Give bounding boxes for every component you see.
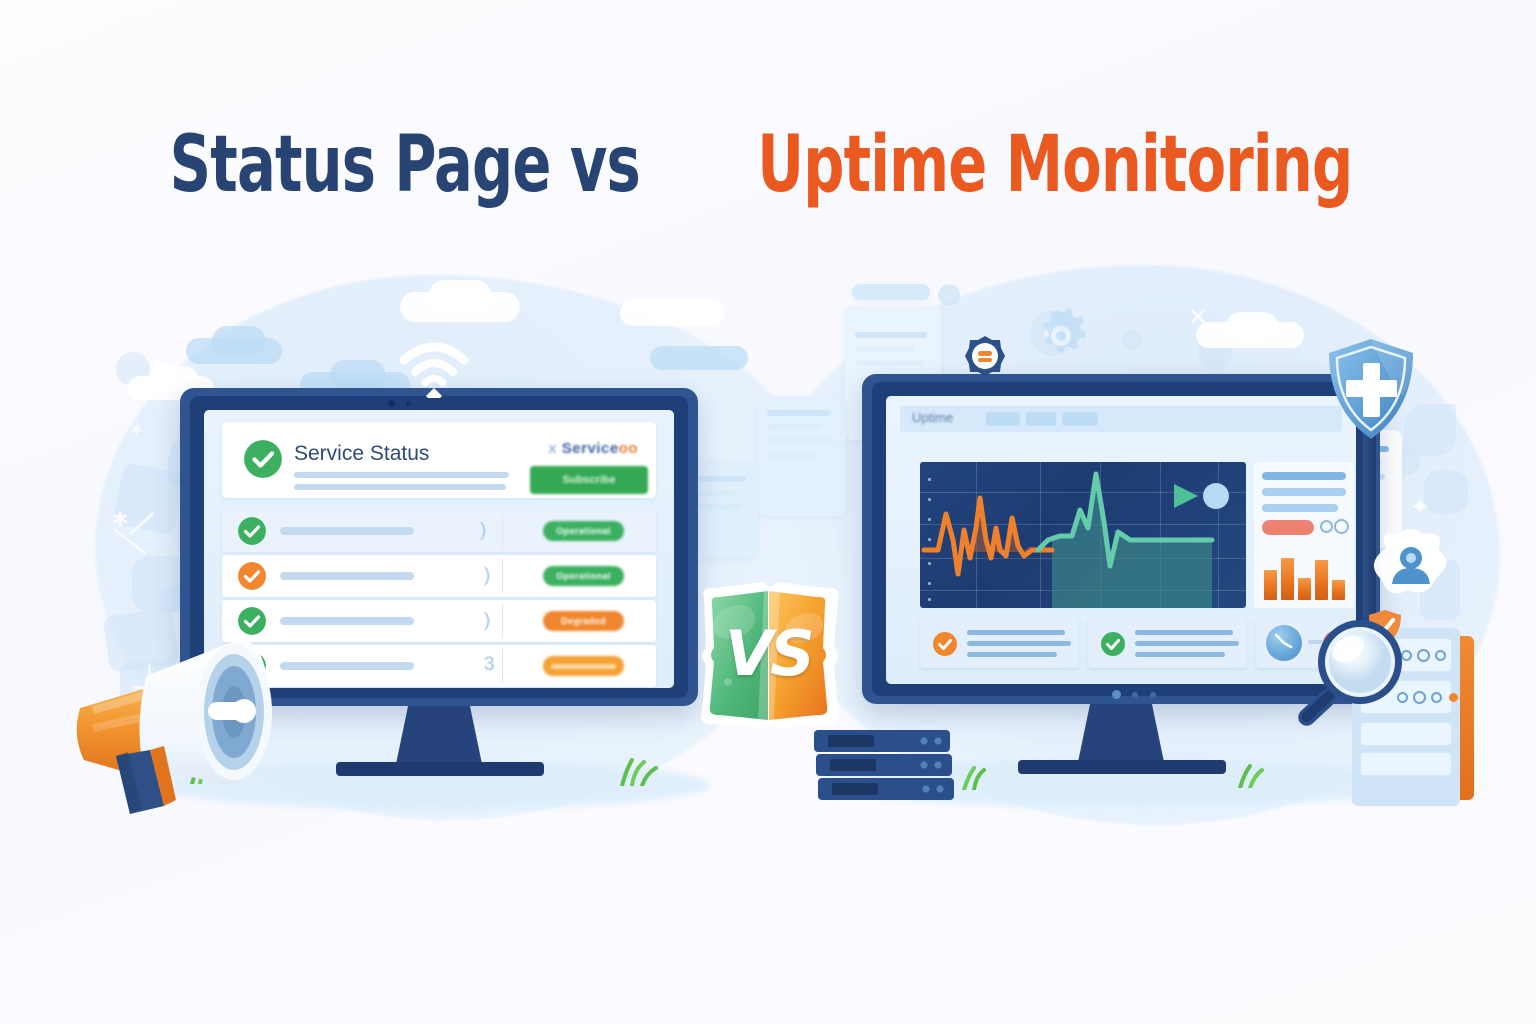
status-badge: Operational <box>543 521 624 541</box>
row-glyph: ) <box>484 565 490 587</box>
status-badge: Operational <box>543 566 624 586</box>
check-circle-icon <box>933 632 957 656</box>
vs-label: VS <box>686 578 851 733</box>
panel-row[interactable] <box>1360 752 1452 776</box>
left-monitor-led <box>406 401 411 406</box>
header-placeholder-line-1 <box>294 472 509 478</box>
grass-decoration-center <box>612 756 668 786</box>
play-marker-icon <box>1174 484 1198 508</box>
row-glyph: ) <box>484 610 490 632</box>
chart-series-paths <box>920 462 1246 608</box>
check-circle-icon <box>238 562 266 590</box>
row-placeholder-bar <box>280 527 414 535</box>
row-divider <box>502 649 503 683</box>
magnifier-icon[interactable] <box>1288 615 1408 740</box>
left-monitor-neck <box>396 706 482 764</box>
gear-icon-background <box>1033 308 1089 364</box>
service-status-title: Service Status <box>294 442 429 466</box>
grass-decoration-right <box>956 762 1004 790</box>
status-badge <box>543 656 624 676</box>
row-divider <box>502 604 503 638</box>
mini-bar <box>1315 560 1328 600</box>
illustration-canvas: ★ ✶ ✱ ✚ ✦ ✕ <box>0 0 1536 1024</box>
right-monitor-neck <box>1078 704 1164 762</box>
right-monitor-indicator <box>1150 692 1156 698</box>
topbar-title: Uptime <box>912 410 953 425</box>
mini-bar <box>1281 558 1294 600</box>
vs-badge: VS <box>686 578 851 733</box>
left-monitor-camera-dot <box>388 400 395 407</box>
page-title: Status Page vs Uptime Monitoring <box>0 120 1536 210</box>
right-monitor-screen: Uptime <box>886 396 1356 684</box>
gear-badge-icon <box>963 334 1007 378</box>
megaphone-icon <box>62 628 322 818</box>
service-status-header: Service Status x Serviceoo Subscribe <box>222 422 656 498</box>
row-placeholder-bar <box>280 572 414 580</box>
title-part-uptime-monitoring: Uptime Monitoring <box>757 120 1352 210</box>
check-circle-icon <box>238 517 266 545</box>
row-divider <box>502 559 503 593</box>
mini-bar <box>1298 578 1311 600</box>
status-badge: Degraded <box>543 611 624 631</box>
right-monitor-indicator <box>1132 692 1138 698</box>
table-row[interactable]: ) Operational <box>222 555 656 597</box>
shield-cross-icon <box>1325 337 1417 442</box>
left-monitor-base <box>336 762 544 776</box>
row-divider <box>502 514 503 548</box>
chart-side-panel <box>1254 462 1354 608</box>
server-rack-icon <box>812 728 958 806</box>
alert-bar <box>1262 520 1314 535</box>
row-placeholder-bar <box>280 617 414 625</box>
wifi-icon <box>398 342 470 398</box>
status-card[interactable] <box>920 618 1078 668</box>
user-avatar-icon <box>1368 528 1454 606</box>
subscribe-button[interactable]: Subscribe <box>530 466 648 494</box>
mini-bar <box>1332 580 1345 600</box>
title-part-status-page: Status Page vs <box>170 120 640 210</box>
status-card[interactable] <box>1088 618 1246 668</box>
table-row[interactable]: ) Operational <box>222 510 656 552</box>
endpoint-dot-icon <box>1203 483 1229 509</box>
dashboard-topbar: Uptime <box>900 406 1342 432</box>
right-monitor-power-led <box>1112 690 1121 699</box>
mini-bar <box>1264 570 1277 600</box>
check-circle-icon <box>244 440 282 478</box>
right-monitor-base <box>1018 760 1226 774</box>
grass-decoration-far-right <box>1232 760 1276 788</box>
row-glyph: 3 <box>484 654 495 676</box>
header-placeholder-line-2 <box>294 484 506 490</box>
check-circle-icon <box>1101 632 1125 656</box>
row-glyph: ) <box>480 520 486 542</box>
brand-logo-text: x Serviceoo <box>548 440 638 457</box>
response-time-chart <box>920 462 1246 608</box>
